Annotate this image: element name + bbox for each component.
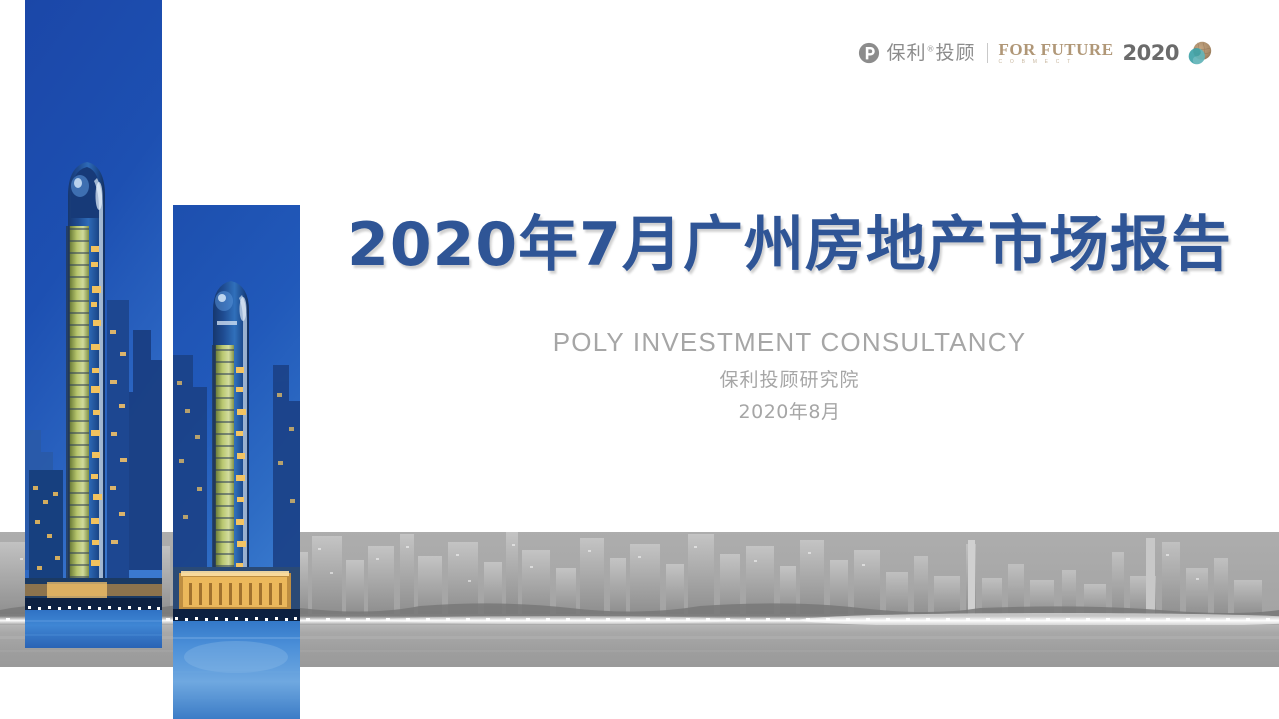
- guangzhou-tower-photo-left: [25, 0, 162, 648]
- for-future-logo: FOR FUTURE С О В М Е С Т 2020: [999, 40, 1213, 67]
- poly-logo: 保利®投顾: [858, 42, 975, 64]
- for-future-main-text: FOR FUTURE: [999, 41, 1114, 58]
- tower-photo-left-graphic: [25, 0, 162, 648]
- poly-p-mark-icon: [858, 42, 880, 64]
- title-block: 2020年7月广州房地产市场报告 POLY INVESTMENT CONSULT…: [300, 212, 1279, 425]
- for-future-wordmark: FOR FUTURE С О В М Е С Т: [999, 41, 1114, 65]
- tower-photo-right-graphic: [173, 205, 300, 719]
- poly-logo-text: 保利®投顾: [886, 44, 975, 63]
- subtitle-english: POLY INVESTMENT CONSULTANCY: [300, 327, 1279, 358]
- poly-logo-text-suffix: 投顾: [936, 42, 976, 64]
- report-date: 2020年8月: [300, 400, 1279, 425]
- brand-logo-bar: 保利®投顾 FOR FUTURE С О В М Е С Т 2020: [858, 36, 1213, 70]
- for-future-year: 2020: [1123, 43, 1179, 64]
- poly-logo-text-main: 保利: [886, 42, 926, 64]
- future-orb-icon: [1186, 40, 1213, 67]
- page-title: 2020年7月广州房地产市场报告: [300, 212, 1279, 279]
- guangzhou-tower-photo-right: [173, 205, 300, 719]
- for-future-sub-text: С О В М Е С Т: [999, 60, 1074, 65]
- registered-mark: ®: [927, 44, 936, 53]
- slide-canvas: 保利®投顾 FOR FUTURE С О В М Е С Т 2020: [0, 0, 1279, 719]
- logo-divider: [987, 43, 988, 63]
- subtitle-chinese: 保利投顾研究院: [300, 368, 1279, 393]
